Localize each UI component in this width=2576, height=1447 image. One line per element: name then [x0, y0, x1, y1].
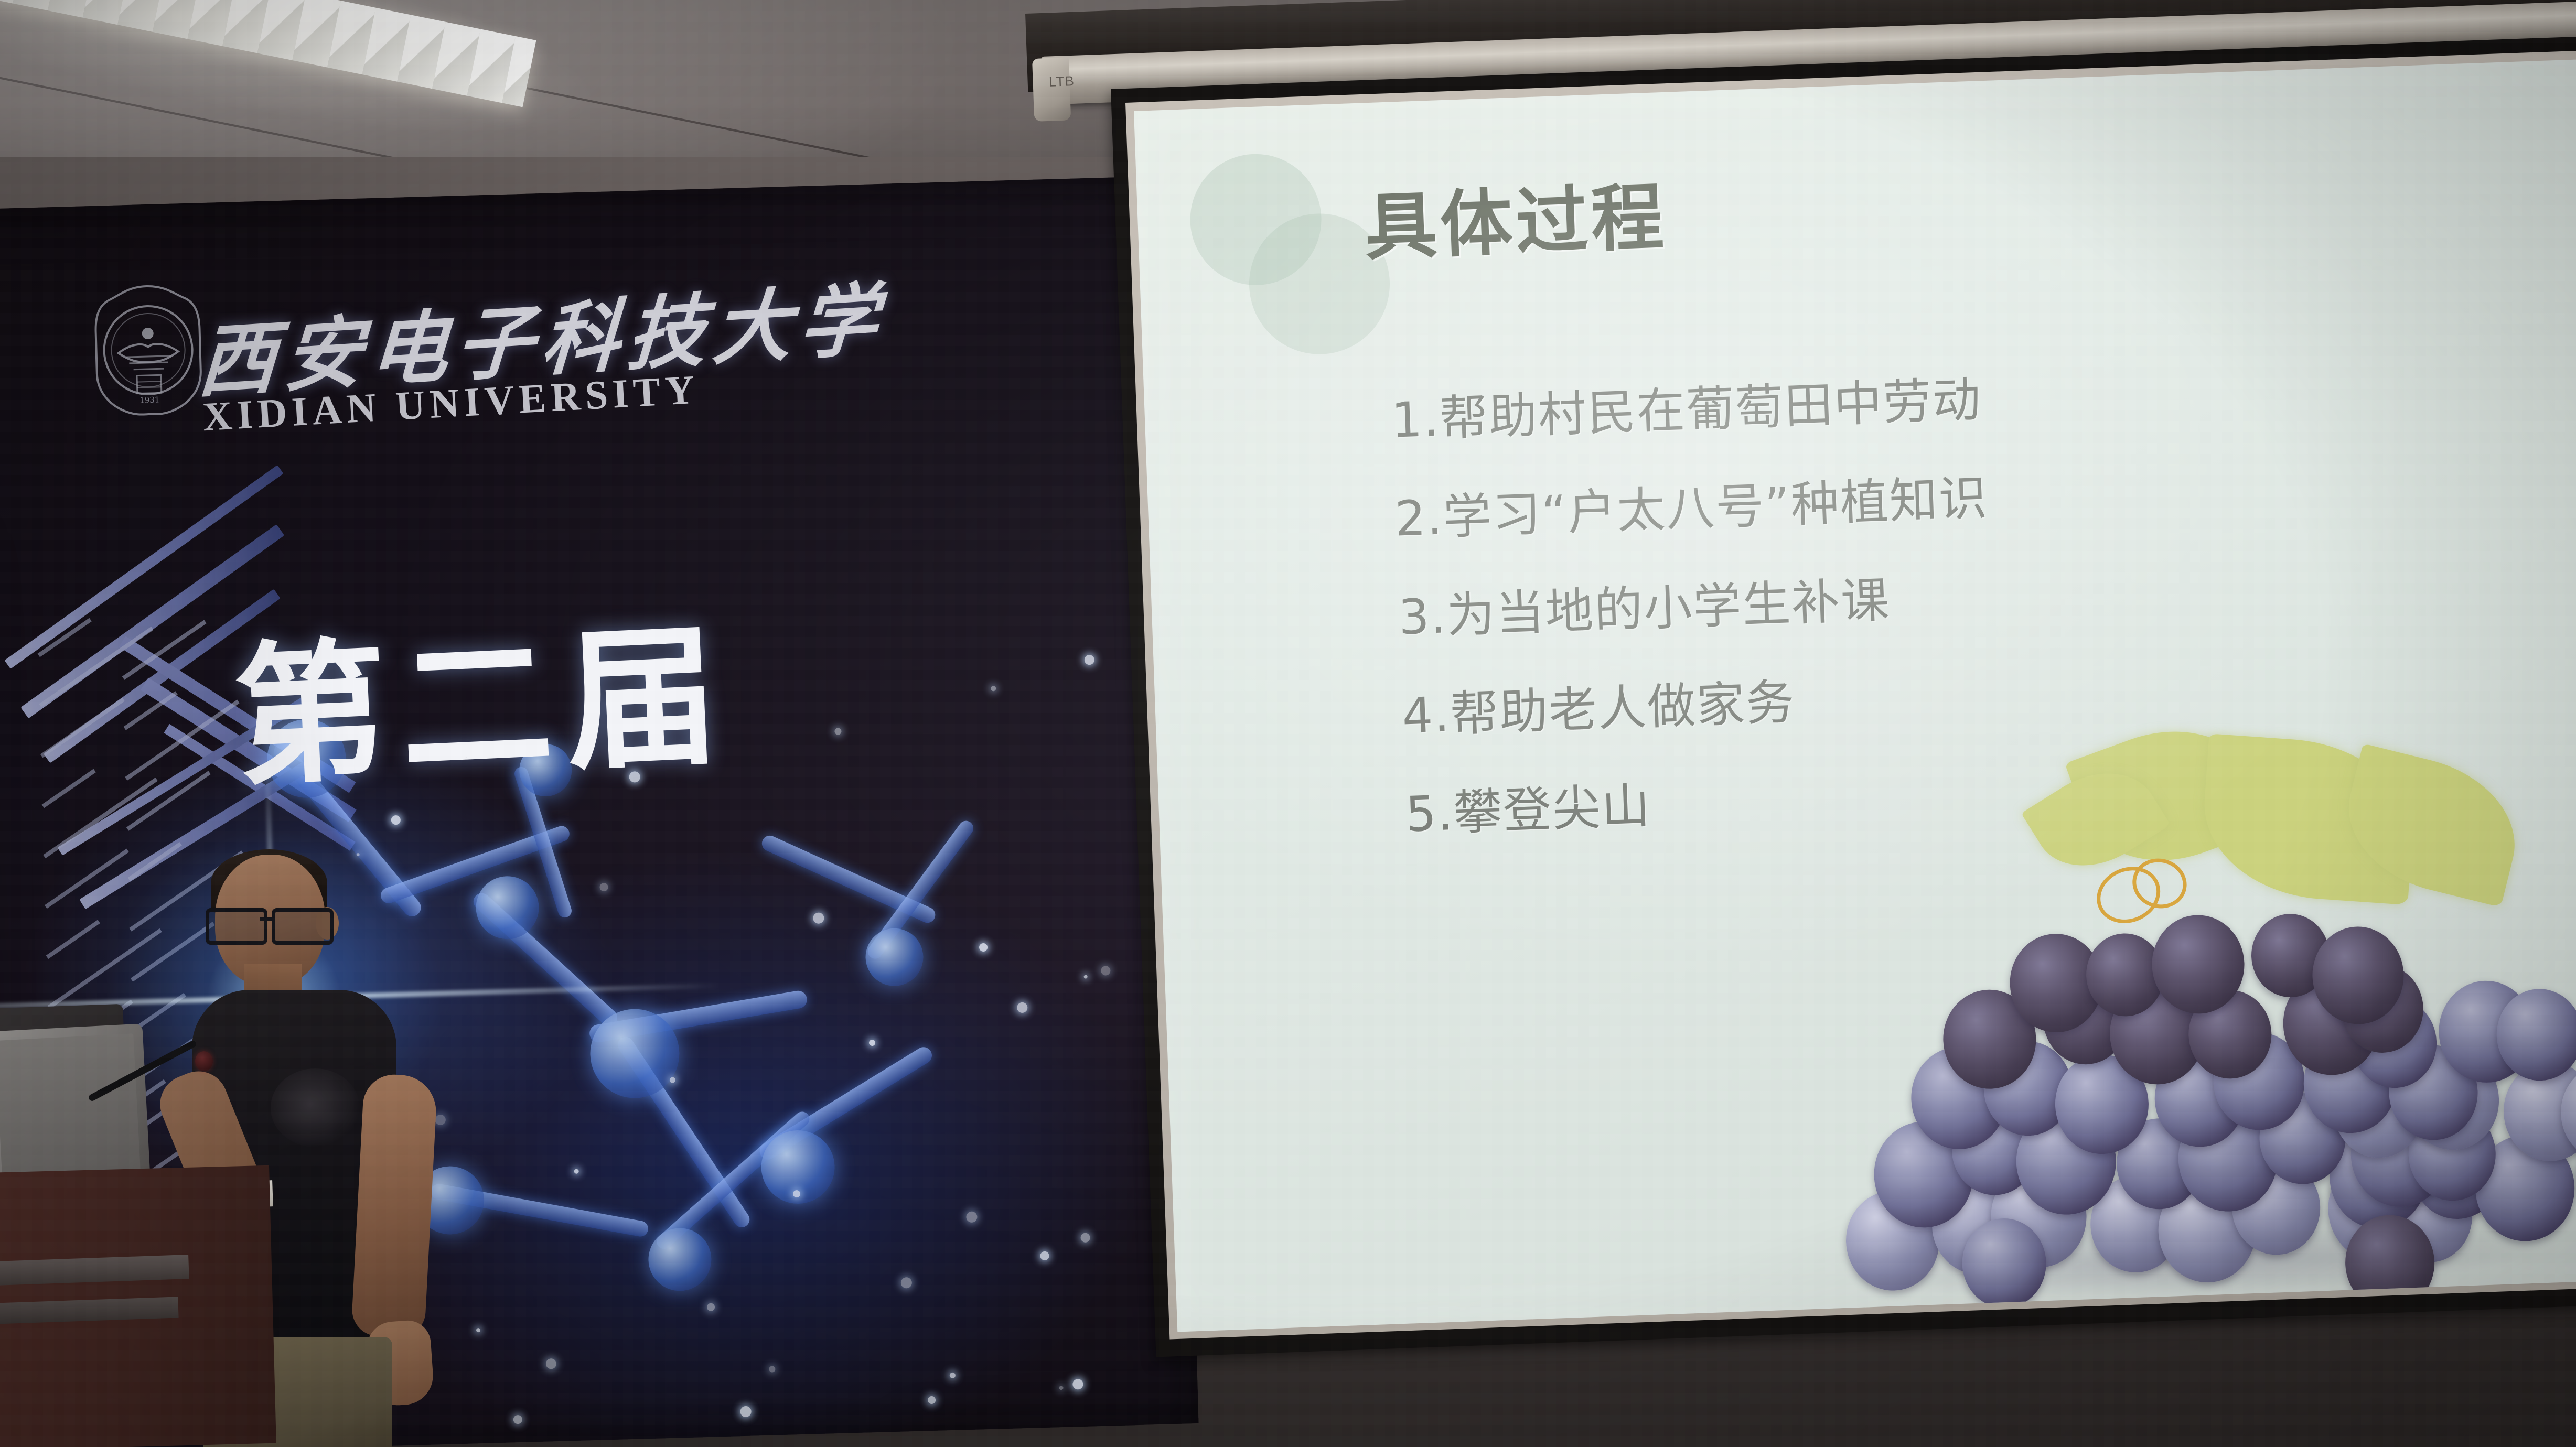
- list-item: 1.帮助村民在葡萄田中劳动: [1391, 361, 2388, 445]
- presentation-photo-scene: 1931 西安电子科技大学 XIDIAN UNIVERSITY 第二届 LTB …: [0, 0, 2576, 1447]
- university-seal-icon: 1931: [86, 282, 210, 418]
- banner-event-title: 第二届: [229, 572, 736, 815]
- slide-title: 具体过程: [1362, 158, 1668, 274]
- svg-text:1931: 1931: [139, 395, 160, 405]
- shirt-graphic: [271, 1068, 360, 1147]
- microphone-head: [195, 1051, 213, 1071]
- slide-grapes-image: [1786, 693, 2576, 1332]
- eyeglasses-icon: [206, 908, 337, 937]
- list-item: 2.学习“户太八号”种植知识: [1394, 460, 2392, 544]
- glasses-lens-right: [272, 908, 334, 945]
- glasses-lens-left: [206, 908, 267, 945]
- projected-slide: 具体过程 1.帮助村民在葡萄田中劳动 2.学习“户太八号”种植知识 3.为当地的…: [1134, 59, 2576, 1332]
- presenter-right-arm: [351, 1073, 438, 1339]
- projector-housing-label: LTB: [1048, 73, 1075, 90]
- list-item: 3.为当地的小学生补课: [1398, 558, 2395, 642]
